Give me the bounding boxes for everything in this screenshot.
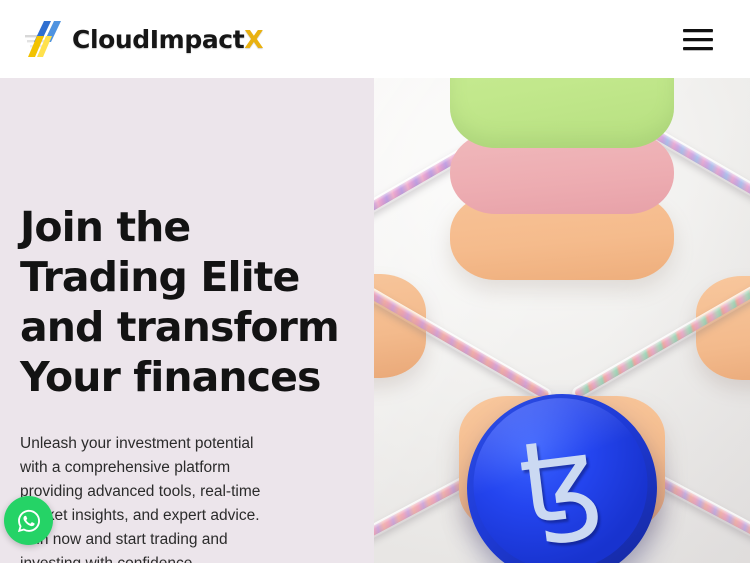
hero-visual-image: ꜩ — [374, 78, 750, 563]
hero-section: Join the Trading Elite and transform You… — [0, 78, 750, 563]
site-header: CloudImpactX — [0, 0, 750, 78]
menu-bar-middle — [683, 38, 713, 41]
brand-logo-link[interactable]: CloudImpactX — [24, 18, 263, 60]
node-top-stack — [450, 78, 674, 282]
tezos-symbol: ꜩ — [514, 421, 607, 542]
hero-copy: Join the Trading Elite and transform You… — [0, 78, 374, 563]
brand-name-accent: X — [244, 25, 263, 54]
menu-bar-bottom — [683, 47, 713, 50]
brand-name: CloudImpactX — [72, 27, 263, 52]
hero-title: Join the Trading Elite and transform You… — [20, 202, 344, 402]
coin-face: ꜩ — [464, 388, 658, 563]
node-layer-green — [450, 78, 674, 148]
hamburger-menu-icon[interactable] — [678, 21, 718, 57]
menu-bar-top — [683, 29, 713, 32]
cloud-impact-logo-icon — [24, 18, 68, 60]
brand-name-main: CloudImpact — [72, 25, 244, 54]
hero-subtitle: Unleash your investment potential with a… — [20, 432, 278, 563]
tezos-coin: ꜩ — [456, 383, 667, 563]
whatsapp-icon[interactable] — [4, 496, 53, 545]
